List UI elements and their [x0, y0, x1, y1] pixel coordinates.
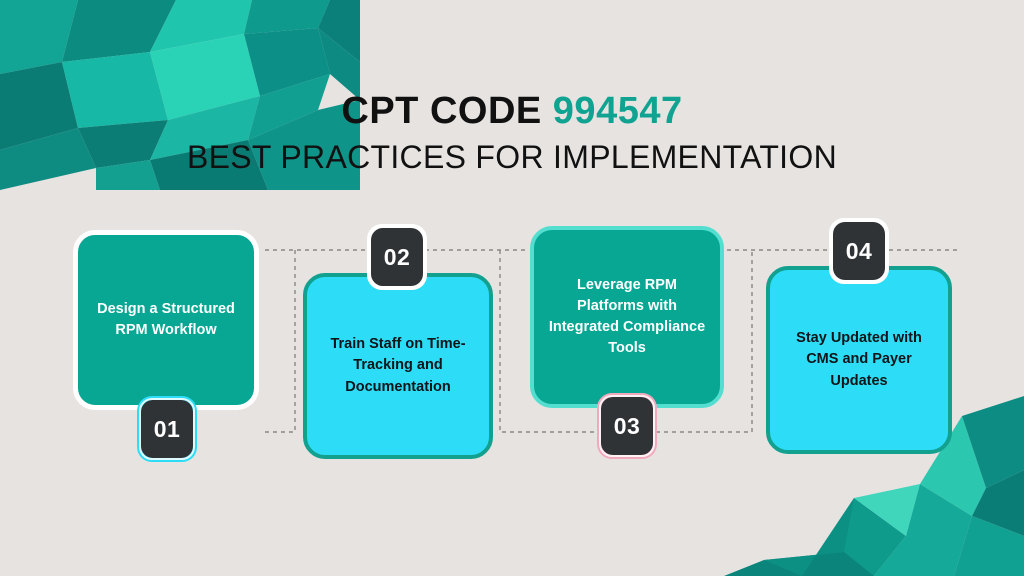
- step-badge-1[interactable]: 01: [137, 396, 197, 462]
- infographic-canvas: CPT CODE 994547 BEST PRACTICES FOR IMPLE…: [0, 0, 1024, 576]
- step-badge-2-number: 02: [371, 228, 423, 286]
- step-badge-3-number: 03: [601, 397, 653, 455]
- title-prefix: CPT CODE: [341, 90, 552, 132]
- page-subtitle: BEST PRACTICES FOR IMPLEMENTATION: [0, 141, 1024, 175]
- step-badge-3[interactable]: 03: [597, 393, 657, 459]
- step-card-2[interactable]: Train Staff on Time-Tracking and Documen…: [303, 273, 493, 459]
- step-card-1[interactable]: Design a Structured RPM Workflow: [73, 230, 259, 410]
- step-card-4[interactable]: Stay Updated with CMS and Payer Updates: [766, 266, 952, 454]
- step-card-2-text: Train Staff on Time-Tracking and Documen…: [321, 334, 475, 397]
- step-card-3[interactable]: Leverage RPM Platforms with Integrated C…: [530, 226, 724, 408]
- step-badge-4-number: 04: [833, 222, 885, 280]
- title-cpt-code: 994547: [553, 90, 683, 132]
- step-card-3-text: Leverage RPM Platforms with Integrated C…: [548, 275, 706, 360]
- step-card-1-text: Design a Structured RPM Workflow: [92, 299, 240, 341]
- page-title: CPT CODE 994547: [0, 92, 1024, 132]
- step-badge-1-number: 01: [141, 400, 193, 458]
- step-badge-2[interactable]: 02: [367, 224, 427, 290]
- title-block: CPT CODE 994547 BEST PRACTICES FOR IMPLE…: [0, 92, 1024, 174]
- step-card-4-text: Stay Updated with CMS and Payer Updates: [784, 328, 934, 391]
- step-badge-4[interactable]: 04: [829, 218, 889, 284]
